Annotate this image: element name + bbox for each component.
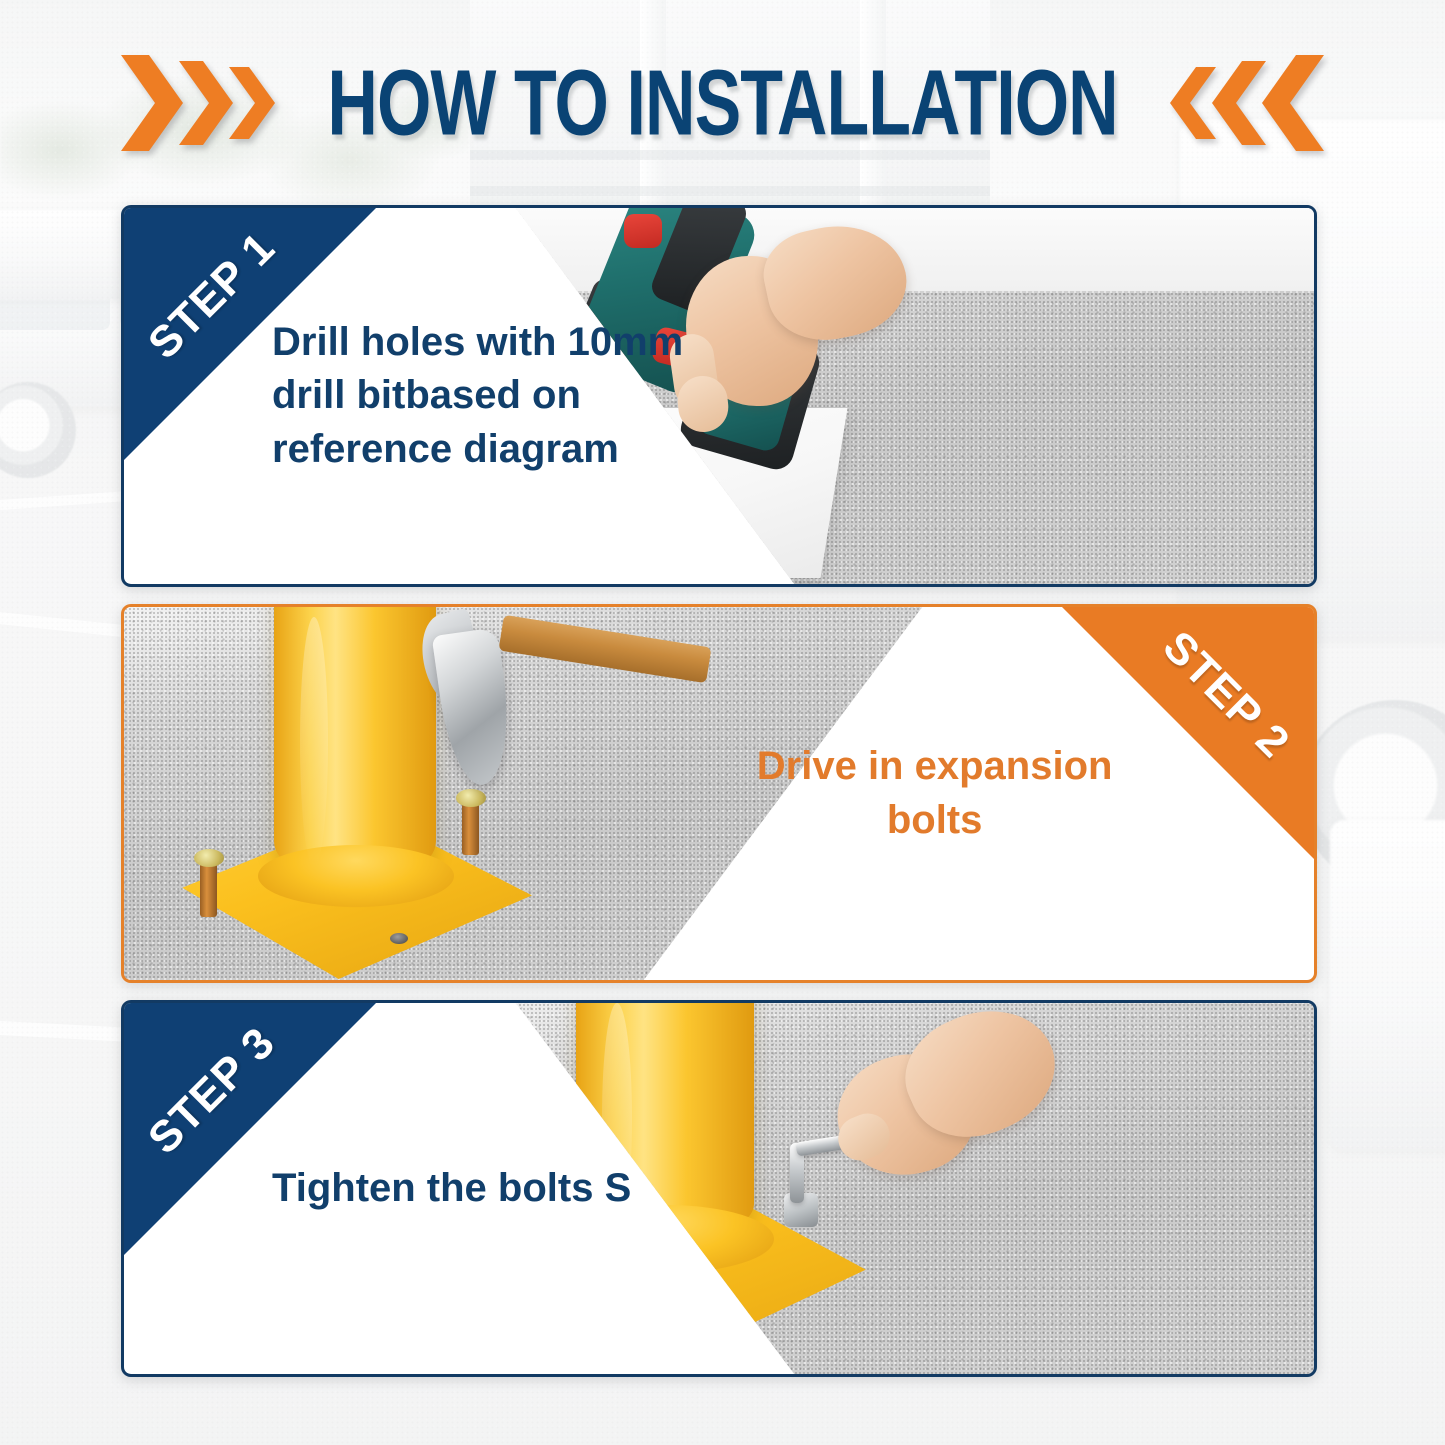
step-2-badge-label: STEP 2 [1062,607,1314,859]
step-3-badge-label: STEP 3 [124,1003,376,1255]
chevron-left-icon [1170,67,1216,139]
step-panel-2[interactable]: Drive in expansion bolts STEP 2 [121,604,1317,983]
chevron-right-icon [229,67,275,139]
bollard-base-fillet [258,845,454,907]
chevrons-right [1170,55,1324,151]
chevron-left-icon [1212,61,1266,145]
step-3-badge: STEP 3 [124,1003,376,1255]
page-header: HOW TO INSTALLATION [0,48,1445,158]
expansion-bolt [462,803,479,855]
step-panel-1[interactable]: Drill holes with 10mm drill bitbased on … [121,205,1317,587]
chevron-left-icon [1262,55,1324,151]
bolt-washer [194,849,224,867]
step-panel-3[interactable]: Tighten the bolts S STEP 3 [121,1000,1317,1377]
chevron-right-icon [121,55,183,151]
step-1-badge: STEP 1 [124,208,376,460]
bolt-washer [456,789,486,807]
page-title: HOW TO INSTALLATION [327,50,1117,156]
plate-hole [390,933,408,944]
chevron-right-icon [179,61,233,145]
yellow-bollard-post [274,607,436,883]
step-2-badge: STEP 2 [1062,607,1314,859]
step-1-badge-label: STEP 1 [124,208,376,460]
chevrons-left [121,55,275,151]
expansion-bolt [200,863,217,917]
